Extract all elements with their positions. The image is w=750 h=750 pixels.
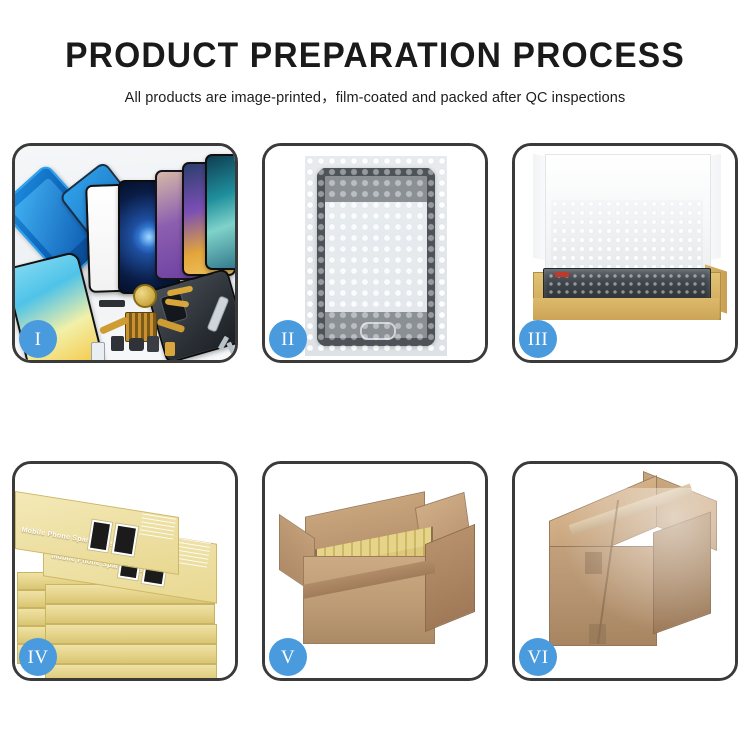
screen-label-sticker: [555, 272, 569, 277]
spare-part-small-4: [91, 342, 105, 360]
step-badge-3: III: [519, 320, 557, 358]
step-badge-4: IV: [19, 638, 57, 676]
spare-part-small-5: [165, 342, 175, 356]
process-step-panel-4[interactable]: Mobile Phone Spare Parts Mobile Phone Sp…: [12, 461, 238, 681]
carton-highlight: [539, 488, 725, 654]
phone-screen-teal: [205, 154, 235, 270]
process-step-panel-1[interactable]: I: [12, 143, 238, 363]
box-artwork-screen-4: [111, 522, 140, 557]
spare-part-coil: [133, 284, 157, 308]
page-subtitle: All products are image-printed，film-coat…: [0, 86, 750, 107]
bubble-wrap-overlay: [305, 156, 447, 356]
spare-part-small-1: [111, 336, 124, 351]
spare-part-small-2: [129, 338, 144, 351]
process-step-panel-3[interactable]: III: [512, 143, 738, 363]
step-badge-5: V: [269, 638, 307, 676]
kraft-box-stack-item: [45, 604, 215, 624]
kraft-box-stack-item: [45, 664, 217, 678]
step-badge-2: II: [269, 320, 307, 358]
spare-part-small-3: [147, 336, 159, 352]
process-step-panel-6[interactable]: VI: [512, 461, 738, 681]
step-badge-6: VI: [519, 638, 557, 676]
kraft-box-stack-item: [45, 624, 217, 644]
box-front-edge: [533, 298, 719, 320]
process-step-grid: I II: [12, 143, 738, 703]
carton-side-face: [425, 524, 475, 632]
kraft-box-stack-item: [45, 644, 217, 664]
page-title: PRODUCT PREPARATION PROCESS: [15, 38, 735, 73]
spare-part-strip: [99, 300, 125, 307]
process-step-panel-5[interactable]: V: [262, 461, 488, 681]
process-step-panel-2[interactable]: II: [262, 143, 488, 363]
box-spec-lines-2: [139, 510, 177, 541]
step-badge-1: I: [19, 320, 57, 358]
product-preparation-page: PRODUCT PREPARATION PROCESS All products…: [0, 0, 750, 750]
foam-insert: [551, 200, 703, 276]
page-header: PRODUCT PREPARATION PROCESS All products…: [0, 0, 750, 107]
